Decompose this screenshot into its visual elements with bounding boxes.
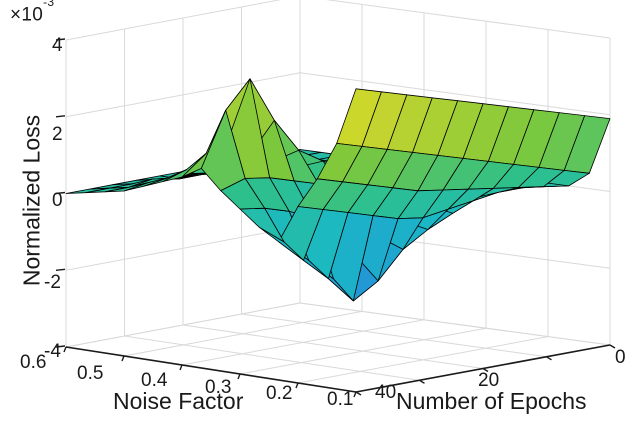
x-axis-tick-mark [122, 356, 124, 361]
y-axis-tick: 40 [375, 382, 396, 404]
floor-grid-line [242, 314, 547, 357]
x-axis-tick: 0.4 [141, 370, 167, 392]
z-axis-exponent-label: ×10-3 [10, 2, 54, 26]
floor-grid-line [125, 336, 420, 380]
exponent-power: -3 [43, 0, 54, 9]
y-axis-tick-mark [420, 380, 425, 383]
wall-grid-line [300, 0, 610, 38]
x-axis-tick-mark [354, 392, 356, 397]
figure-surface-plot: ×10-3 Normalized Loss Noise Factor Numbe… [0, 0, 636, 430]
x-axis-tick: 0.1 [327, 389, 353, 411]
x-axis-tick-mark [296, 383, 298, 388]
floor-grid-line [183, 325, 483, 369]
z-axis-title: Normalized Loss [19, 111, 46, 291]
y-axis-tick-mark [356, 392, 361, 395]
z-axis-tick: 2 [52, 124, 63, 146]
x-axis-tick-mark [64, 347, 66, 352]
surface-mesh [66, 79, 610, 301]
x-axis-tick: 0.2 [266, 383, 292, 405]
y-axis-tick: 20 [478, 370, 499, 392]
exponent-base: ×10 [10, 4, 43, 25]
x-axis-tick: 0.5 [77, 363, 103, 385]
z-axis-tick: -4 [44, 341, 61, 363]
y-axis-tick-mark [547, 357, 552, 360]
x-axis-tick: 0.3 [205, 377, 231, 399]
z-axis-tick: 4 [52, 35, 63, 57]
z-axis-tick: -2 [44, 272, 61, 294]
y-axis-title: Number of Epochs [396, 388, 586, 415]
x-axis-tick-mark [238, 374, 240, 379]
z-axis-tick: 0 [52, 190, 63, 212]
x-axis-tick: 0.6 [20, 352, 46, 374]
wall-grid-line [300, 303, 610, 345]
x-axis-tick-mark [180, 365, 182, 370]
z-axis-tick-mark [56, 116, 65, 117]
z-axis-tick-mark [56, 269, 65, 270]
y-axis-tick: 0 [615, 347, 626, 369]
